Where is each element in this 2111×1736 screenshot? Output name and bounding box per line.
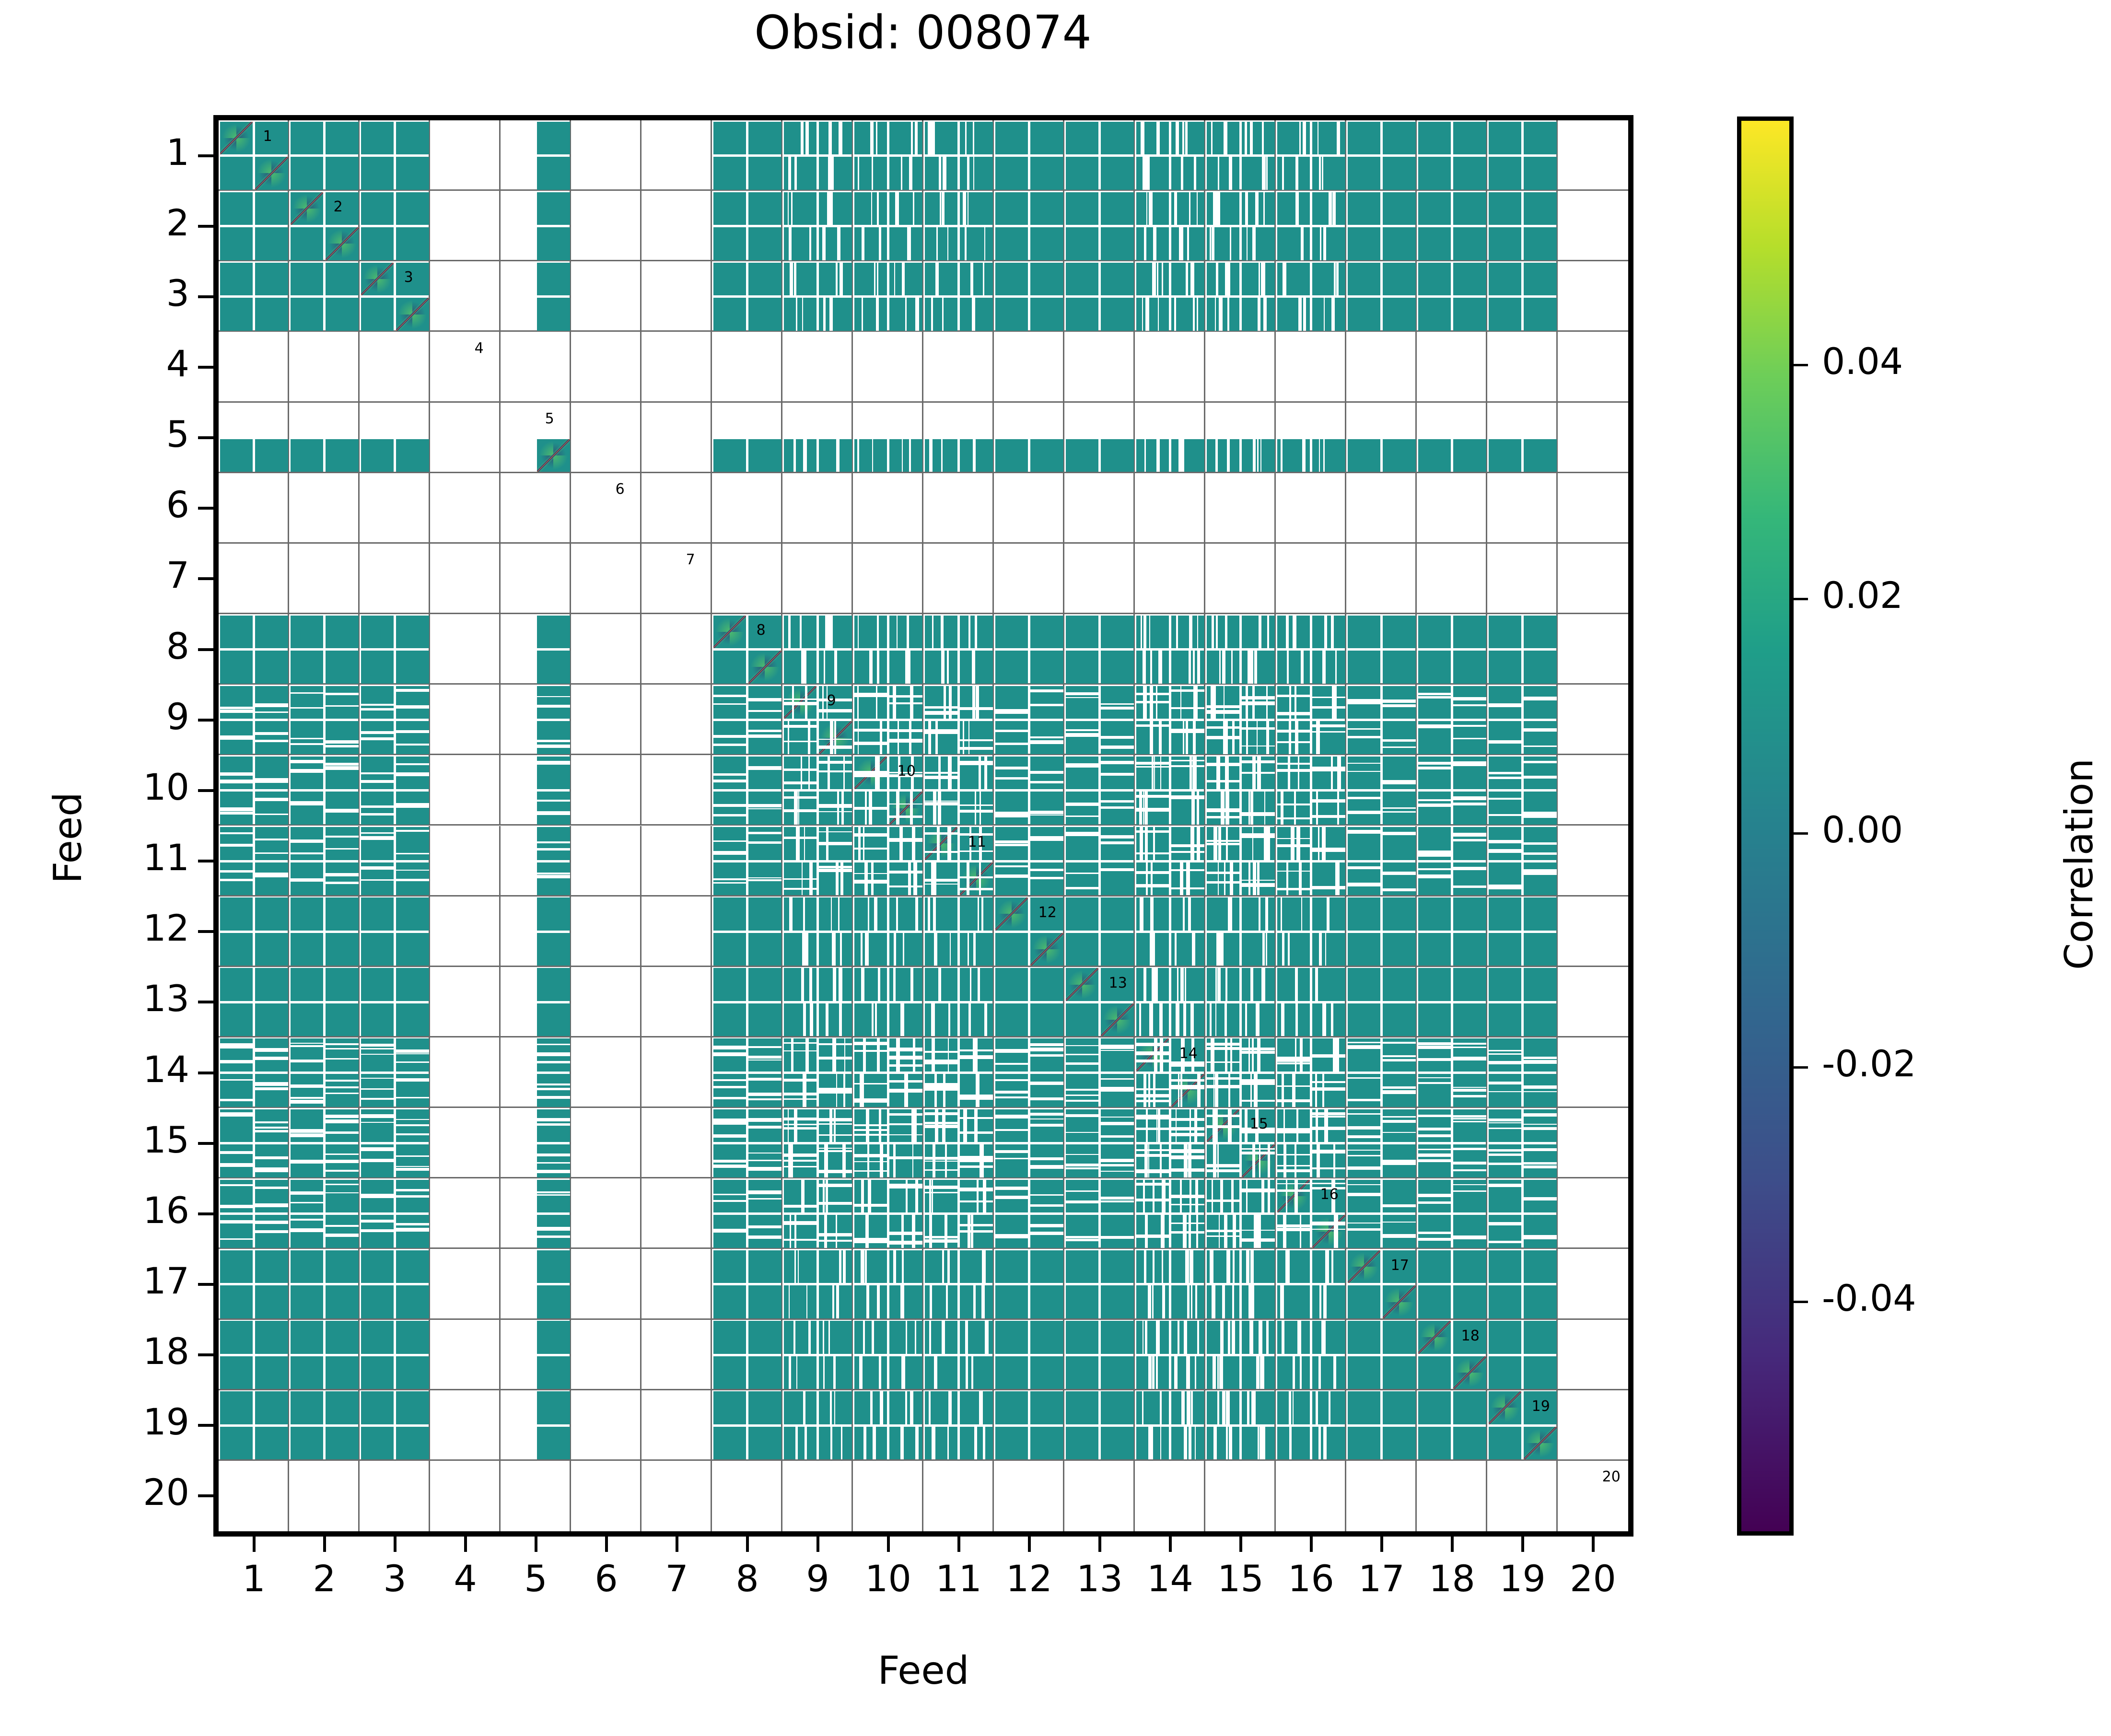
flagged-channel-stripe	[784, 888, 817, 890]
matrix-cell	[360, 1390, 430, 1461]
flagged-channel-stripe	[942, 1250, 944, 1283]
sideband-block	[1242, 968, 1275, 1001]
flagged-channel-stripe	[713, 695, 746, 697]
matrix-cell	[430, 826, 501, 897]
sideband-block	[1383, 298, 1416, 331]
sideband-block	[1453, 616, 1486, 649]
sideband-block-diagonal	[819, 721, 852, 754]
sideband-block	[925, 1180, 958, 1213]
sideband-block	[220, 1144, 253, 1177]
flagged-channel-stripe	[796, 1356, 797, 1389]
sideband-block	[1277, 1391, 1310, 1424]
x-axis-tick-label: 3	[362, 1561, 429, 1597]
matrix-cell	[712, 191, 782, 261]
sideband-block	[854, 1180, 887, 1213]
sideband-block	[1136, 122, 1169, 155]
flagged-channel-stripe	[537, 1125, 570, 1126]
flagged-channel-stripe	[836, 1215, 838, 1248]
sideband-block	[361, 1427, 394, 1460]
flagged-channel-stripe	[255, 1230, 288, 1233]
flagged-channel-stripe	[537, 1088, 570, 1090]
sideband-block	[1101, 757, 1134, 790]
autocorrelation-diagonal	[889, 792, 922, 825]
flagged-channel-stripe	[537, 1153, 570, 1156]
flagged-channel-stripe	[841, 792, 844, 825]
flagged-channel-stripe	[833, 1356, 836, 1389]
matrix-cell	[782, 897, 853, 967]
matrix-cell	[430, 1037, 501, 1108]
flagged-channel-stripe	[1263, 157, 1266, 190]
y-axis-tick-label: 12	[93, 910, 189, 946]
sideband-block	[361, 439, 394, 472]
flagged-channel-stripe	[1453, 1089, 1486, 1092]
matrix-cell	[1558, 120, 1628, 191]
matrix-cell	[1276, 191, 1346, 261]
flagged-channel-stripe	[1207, 808, 1240, 812]
flagged-channel-stripe	[889, 885, 922, 888]
flagged-channel-stripe	[1207, 1061, 1240, 1063]
sideband-block	[396, 1109, 429, 1142]
sideband-block	[1136, 1180, 1169, 1213]
sideband-block	[291, 1356, 324, 1389]
matrix-cell	[501, 1037, 571, 1108]
sideband-block	[784, 616, 817, 649]
flagged-channel-stripe	[1312, 1183, 1345, 1184]
sideband-block	[1524, 1215, 1557, 1248]
sideband-block	[291, 1321, 324, 1354]
sideband-block	[784, 122, 817, 155]
flagged-channel-stripe	[804, 827, 805, 860]
colorbar-tick-label: 0.02	[1822, 577, 1903, 614]
matrix-cell	[1417, 1037, 1487, 1108]
matrix-cell	[1558, 685, 1628, 755]
matrix-cell	[1276, 1461, 1346, 1531]
flagged-channel-stripe	[326, 1160, 359, 1163]
flagged-channel-stripe	[326, 1043, 359, 1045]
sideband-block	[1242, 827, 1275, 860]
flagged-channel-stripe	[1260, 1356, 1263, 1389]
flagged-channel-stripe	[1453, 697, 1486, 700]
sideband-block	[784, 1285, 817, 1318]
matrix-cell: 7	[641, 544, 712, 614]
matrix-cell	[571, 120, 641, 191]
sideband-block	[1383, 757, 1416, 790]
matrix-cell	[1135, 1178, 1205, 1249]
sideband-block	[1066, 157, 1099, 190]
sideband-block	[995, 651, 1028, 684]
flagged-channel-stripe	[1383, 811, 1416, 813]
flagged-channel-stripe	[1489, 1222, 1522, 1225]
sideband-block	[1453, 1215, 1486, 1248]
flagged-channel-stripe	[877, 616, 879, 649]
sideband-block	[1348, 263, 1381, 296]
flagged-channel-stripe	[1418, 767, 1451, 769]
sideband-block	[1242, 157, 1275, 190]
flagged-channel-stripe	[960, 1224, 993, 1226]
flagged-channel-stripe	[1261, 1180, 1264, 1213]
flagged-channel-stripe	[537, 745, 570, 748]
sideband-block	[995, 862, 1028, 896]
matrix-cell	[219, 897, 289, 967]
flagged-channel-stripe	[1066, 733, 1099, 737]
sideband-block	[291, 792, 324, 825]
sideband-block	[1524, 122, 1557, 155]
flagged-channel-stripe	[396, 1168, 429, 1171]
flagged-channel-stripe	[1277, 769, 1310, 772]
flagged-channel-stripe	[788, 616, 791, 649]
sideband-block	[255, 439, 288, 472]
flagged-channel-stripe	[889, 1232, 922, 1235]
sideband-block	[1489, 862, 1522, 896]
matrix-cell	[923, 967, 994, 1037]
flagged-channel-stripe	[361, 1054, 394, 1055]
flagged-channel-stripe	[1489, 741, 1522, 744]
sideband-block	[1171, 1321, 1204, 1354]
sideband-block	[960, 968, 993, 1001]
flagged-channel-stripe	[784, 1124, 817, 1125]
sideband-block	[1101, 1427, 1134, 1460]
flagged-channel-stripe	[396, 830, 429, 832]
flagged-channel-stripe	[1187, 1285, 1190, 1318]
matrix-cell	[641, 1108, 712, 1178]
flagged-channel-stripe	[537, 1194, 570, 1195]
sideband-block	[1312, 227, 1345, 260]
flagged-channel-stripe	[361, 1048, 394, 1050]
sideband-block	[889, 686, 922, 719]
sideband-block	[220, 1109, 253, 1142]
sideband-block	[1348, 122, 1381, 155]
matrix-cell	[853, 967, 923, 1037]
flagged-channel-stripe	[1524, 1113, 1557, 1117]
flagged-channel-stripe	[1207, 705, 1240, 708]
sideband-block	[396, 968, 429, 1001]
matrix-cell	[1276, 1320, 1346, 1390]
sideband-block	[1030, 1003, 1063, 1037]
colorbar-tick-label: 0.00	[1822, 812, 1903, 848]
flagged-channel-stripe	[1136, 1128, 1169, 1130]
flagged-channel-stripe	[858, 157, 859, 190]
sideband-block	[396, 792, 429, 825]
sideband-block	[713, 1038, 746, 1072]
matrix-cell	[1205, 614, 1276, 685]
flagged-channel-stripe	[1146, 192, 1147, 225]
matrix-cell	[1205, 120, 1276, 191]
sideband-block-diagonal	[1207, 1109, 1240, 1142]
sideband-block-diagonal	[784, 686, 817, 719]
matrix-cell	[641, 261, 712, 332]
sideband-block	[1383, 1003, 1416, 1037]
sideband-block	[1066, 1250, 1099, 1283]
matrix-cell	[1276, 685, 1346, 755]
sideband-block	[1207, 1356, 1240, 1389]
sideband-block	[925, 757, 958, 790]
sideband-block	[1453, 1427, 1486, 1460]
sideband-block	[1348, 1180, 1381, 1213]
sideband-block	[1453, 1285, 1486, 1318]
flagged-channel-stripe	[1180, 1074, 1182, 1107]
flagged-channel-stripe	[1101, 806, 1134, 809]
sideband-block	[713, 968, 746, 1001]
matrix-cell	[994, 1249, 1064, 1319]
sideband-block	[1312, 263, 1345, 296]
flagged-channel-stripe	[1453, 1047, 1486, 1048]
flagged-channel-stripe	[1231, 651, 1232, 684]
flagged-channel-stripe	[1453, 725, 1486, 727]
autocorrelation-diagonal	[1312, 1215, 1345, 1248]
flagged-channel-stripe	[1145, 298, 1149, 331]
flagged-channel-stripe	[1030, 1113, 1063, 1116]
matrix-cell	[641, 1249, 712, 1319]
flagged-channel-stripe	[965, 1321, 968, 1354]
sideband-block	[784, 1003, 817, 1037]
sideband-block	[396, 1038, 429, 1072]
flagged-channel-stripe	[291, 707, 324, 709]
flagged-channel-stripe	[1171, 1223, 1204, 1224]
sideband-block	[854, 1074, 887, 1107]
matrix-cell	[1064, 1037, 1135, 1108]
y-axis-tick-label: 20	[93, 1474, 189, 1511]
sideband-block	[960, 933, 993, 966]
sideband-block-diagonal	[1524, 1427, 1557, 1460]
sideband-block	[1418, 757, 1451, 790]
flagged-channel-stripe	[880, 1391, 883, 1424]
sideband-block	[819, 1250, 852, 1283]
sideband-block	[326, 1144, 359, 1177]
sideband-block	[1066, 122, 1099, 155]
sideband-block	[748, 827, 781, 860]
sideband-block	[220, 651, 253, 684]
sideband-block	[1418, 1074, 1451, 1107]
sideband-block	[1418, 227, 1451, 260]
flagged-channel-stripe	[748, 1235, 781, 1239]
matrix-cell	[1135, 332, 1205, 402]
sideband-block-diagonal	[1101, 1003, 1134, 1037]
flagged-channel-stripe	[831, 897, 832, 931]
sideband-block	[255, 968, 288, 1001]
flagged-channel-stripe	[1171, 1085, 1204, 1088]
flagged-channel-stripe	[1212, 616, 1214, 649]
flagged-channel-stripe	[1171, 765, 1204, 768]
matrix-cell	[1487, 1249, 1558, 1319]
flagged-channel-stripe	[1066, 816, 1099, 817]
matrix-cell	[430, 544, 501, 614]
sideband-block	[784, 1215, 817, 1248]
matrix-cell	[360, 120, 430, 191]
sideband-block	[291, 827, 324, 860]
flagged-channel-stripe	[1348, 1228, 1381, 1231]
flagged-channel-stripe	[913, 192, 914, 225]
flagged-channel-stripe	[1312, 799, 1345, 803]
feed-index-label: 3	[404, 270, 413, 285]
matrix-cell	[994, 120, 1064, 191]
flagged-channel-stripe	[1252, 1038, 1254, 1072]
matrix-cell	[289, 120, 360, 191]
flagged-channel-stripe	[713, 804, 746, 807]
sideband-block	[748, 157, 781, 190]
flagged-channel-stripe	[220, 870, 253, 873]
flagged-channel-stripe	[1136, 1149, 1169, 1151]
flagged-channel-stripe	[361, 704, 394, 706]
flagged-channel-stripe	[326, 882, 359, 884]
flagged-channel-stripe	[1489, 777, 1522, 780]
flagged-channel-stripe	[1151, 862, 1152, 896]
flagged-channel-stripe	[1245, 192, 1248, 225]
sideband-block	[784, 298, 817, 331]
flagged-channel-stripe	[1229, 157, 1232, 190]
sideband-block	[1277, 298, 1310, 331]
sideband-block-diagonal	[925, 827, 958, 860]
flagged-channel-stripe	[925, 1186, 958, 1189]
flagged-channel-stripe	[255, 703, 288, 707]
flagged-channel-stripe	[1295, 1144, 1296, 1177]
flagged-channel-stripe	[1144, 1250, 1146, 1283]
sideband-block	[1030, 298, 1063, 331]
flagged-channel-stripe	[537, 1096, 570, 1099]
sideband-block	[784, 933, 817, 966]
flagged-channel-stripe	[854, 1129, 887, 1131]
sideband-block	[396, 1391, 429, 1424]
flagged-channel-stripe	[1277, 1189, 1310, 1192]
sideband-block	[1453, 933, 1486, 966]
sideband-block	[1171, 122, 1204, 155]
sideband-block	[1524, 651, 1557, 684]
flagged-channel-stripe	[1160, 1427, 1161, 1460]
flagged-channel-stripe	[1489, 1050, 1522, 1051]
flagged-channel-stripe	[1030, 869, 1063, 871]
sideband-block	[1453, 1391, 1486, 1424]
flagged-channel-stripe	[713, 1052, 746, 1056]
flagged-channel-stripe	[960, 739, 993, 741]
flagged-channel-stripe	[396, 805, 429, 808]
matrix-cell	[1346, 1320, 1417, 1390]
sideband-block	[1101, 122, 1134, 155]
flagged-channel-stripe	[857, 686, 859, 719]
flagged-channel-stripe	[810, 1003, 813, 1037]
flagged-channel-stripe	[789, 227, 792, 260]
sideband-block	[748, 1215, 781, 1248]
flagged-channel-stripe	[1322, 651, 1326, 684]
flagged-channel-stripe	[995, 840, 1028, 843]
flagged-channel-stripe	[910, 792, 913, 825]
flagged-channel-stripe	[748, 1190, 781, 1194]
flagged-channel-stripe	[1101, 1078, 1134, 1080]
flagged-channel-stripe	[1312, 1222, 1345, 1225]
flagged-channel-stripe	[1316, 1391, 1318, 1424]
autocorrelation-diagonal	[995, 897, 1028, 931]
sideband-block	[361, 827, 394, 860]
flagged-channel-stripe	[713, 1086, 746, 1089]
sideband-block	[1277, 1285, 1310, 1318]
sideband-block	[819, 263, 852, 296]
sideband-block	[1066, 439, 1099, 472]
flagged-channel-stripe	[889, 695, 922, 697]
flagged-channel-stripe	[1162, 263, 1163, 296]
flagged-channel-stripe	[713, 814, 746, 816]
sideband-block	[713, 651, 746, 684]
flagged-channel-stripe	[1242, 812, 1275, 815]
sideband-block	[1383, 686, 1416, 719]
y-axis-tick-label: 1	[93, 134, 189, 171]
flagged-channel-stripe	[713, 878, 746, 880]
autocorrelation-diagonal	[1418, 1321, 1451, 1354]
matrix-cell	[1205, 1178, 1276, 1249]
flagged-channel-stripe	[1180, 968, 1183, 1001]
sideband-block	[1171, 298, 1204, 331]
flagged-channel-stripe	[1254, 651, 1257, 684]
sideband-block	[995, 792, 1028, 825]
flagged-channel-stripe	[947, 1250, 950, 1283]
sideband-block-diagonal	[361, 263, 394, 296]
matrix-cell	[923, 332, 994, 402]
flagged-channel-stripe	[1348, 701, 1381, 704]
flagged-channel-stripe	[878, 968, 880, 1001]
sideband-block	[1066, 686, 1099, 719]
sideband-block	[1383, 897, 1416, 931]
flagged-channel-stripe	[1230, 862, 1233, 896]
flagged-channel-stripe	[854, 729, 887, 732]
sideband-block	[326, 1427, 359, 1460]
flagged-channel-stripe	[1489, 1053, 1522, 1055]
flagged-channel-stripe	[960, 810, 993, 813]
flagged-channel-stripe	[1489, 1083, 1522, 1085]
flagged-channel-stripe	[1348, 883, 1381, 886]
sideband-block	[925, 1321, 958, 1354]
flagged-channel-stripe	[824, 651, 825, 684]
matrix-cell	[219, 1461, 289, 1531]
flagged-channel-stripe	[1259, 897, 1260, 931]
sideband-block	[1383, 263, 1416, 296]
flagged-channel-stripe	[889, 816, 922, 818]
flagged-channel-stripe	[1101, 1171, 1134, 1172]
sideband-block	[537, 1321, 570, 1354]
flagged-channel-stripe	[905, 298, 907, 331]
sideband-block	[537, 686, 570, 719]
sideband-block	[1101, 721, 1134, 754]
flagged-channel-stripe	[1066, 729, 1099, 731]
flagged-channel-stripe	[537, 1118, 570, 1121]
flagged-channel-stripe	[973, 122, 974, 155]
matrix-cell	[360, 191, 430, 261]
flagged-channel-stripe	[889, 729, 922, 732]
sideband-block	[291, 1109, 324, 1142]
sideband-block	[1453, 157, 1486, 190]
sideband-block	[1348, 1427, 1381, 1460]
flagged-channel-stripe	[1319, 1285, 1321, 1318]
feed-index-label: 15	[1250, 1117, 1268, 1131]
flagged-channel-stripe	[1150, 651, 1153, 684]
matrix-cell	[1064, 1108, 1135, 1178]
x-axis-tick	[1028, 1537, 1031, 1552]
matrix-cell	[1487, 897, 1558, 967]
sideband-block	[291, 1285, 324, 1318]
flagged-channel-stripe	[291, 1219, 324, 1221]
sideband-block	[1489, 1427, 1522, 1460]
flagged-channel-stripe	[1207, 1077, 1240, 1080]
flagged-channel-stripe	[1136, 1060, 1169, 1063]
sideband-block	[1312, 1285, 1345, 1318]
sideband-block	[748, 192, 781, 225]
sideband-block	[1453, 298, 1486, 331]
flagged-channel-stripe	[291, 1100, 324, 1104]
flagged-channel-stripe	[854, 742, 887, 745]
flagged-channel-stripe	[936, 263, 939, 296]
sideband-block	[361, 1391, 394, 1424]
matrix-cell	[1417, 544, 1487, 614]
flagged-channel-stripe	[1489, 798, 1522, 800]
matrix-cell	[1417, 826, 1487, 897]
sideband-block	[291, 686, 324, 719]
sideband-block	[854, 1215, 887, 1248]
